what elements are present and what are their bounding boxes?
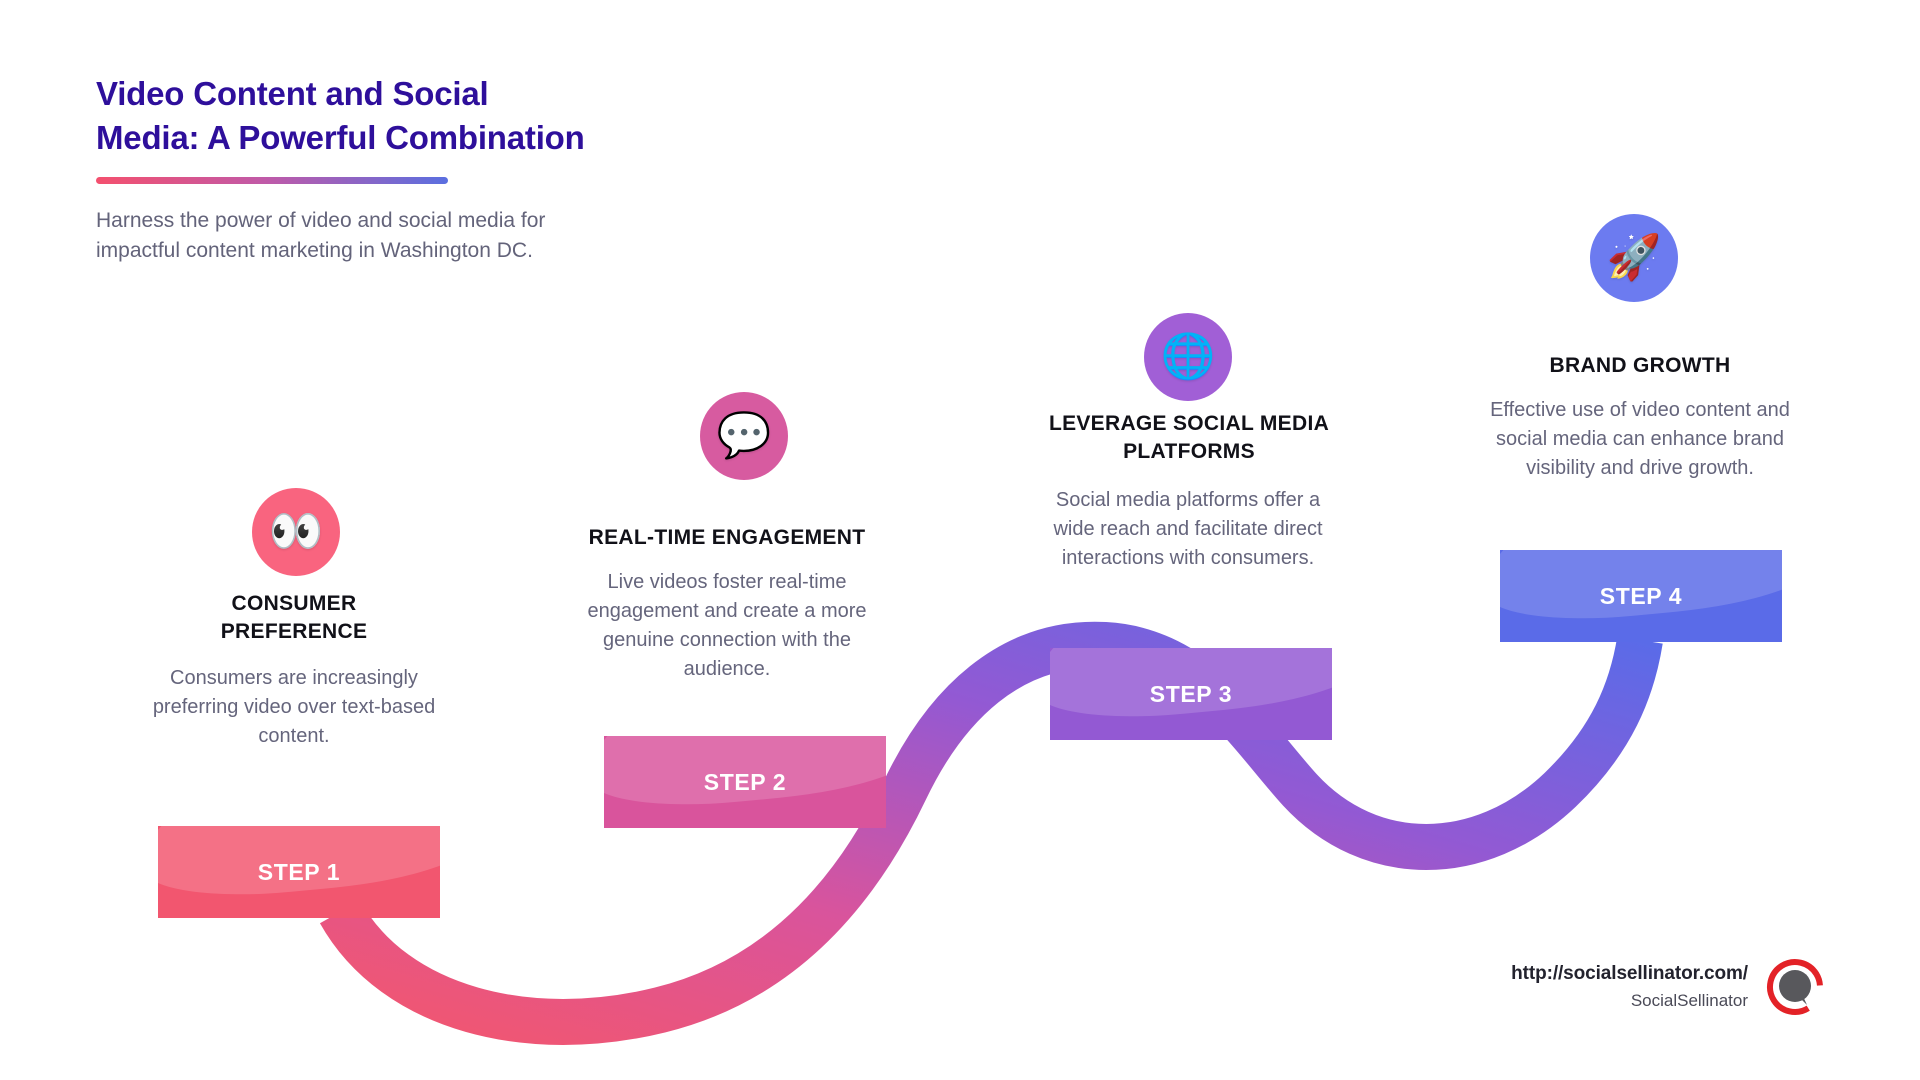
step-bar-label-1: STEP 1 <box>258 859 340 886</box>
step-bar-label-4: STEP 4 <box>1600 583 1682 610</box>
page-title-line-1: Video Content and Social <box>96 72 716 116</box>
eyes-icon-glyph: 👀 <box>269 510 324 554</box>
step-bar-2[interactable]: STEP 2 <box>604 736 886 828</box>
globe-icon-glyph: 🌐 <box>1161 335 1216 379</box>
step-bar-1[interactable]: STEP 1 <box>158 826 440 918</box>
page-subtitle: Harness the power of video and social me… <box>96 206 576 266</box>
rocket-icon-glyph: 🚀 <box>1607 236 1662 280</box>
footer-url[interactable]: http://socialsellinator.com/ <box>1511 963 1748 985</box>
step-description-2: Live videos foster real-time engagement … <box>586 568 868 684</box>
step-bar-label-2: STEP 2 <box>704 769 786 796</box>
footer-text: http://socialsellinator.com/ SocialSelli… <box>1511 963 1748 1011</box>
page-title-line-2: Media: A Powerful Combination <box>96 116 716 160</box>
step-heading-2: REAL-TIME ENGAGEMENT <box>572 524 882 552</box>
header-block: Video Content and Social Media: A Powerf… <box>96 72 716 265</box>
footer-brand-name: SocialSellinator <box>1511 991 1748 1011</box>
speech-balloon-icon: 💬 <box>700 392 788 480</box>
step-description-4: Effective use of video content and socia… <box>1482 396 1798 483</box>
title-divider <box>96 177 448 184</box>
rocket-icon: 🚀 <box>1590 214 1678 302</box>
step-heading-4: BRAND GROWTH <box>1490 352 1790 380</box>
footer-block: http://socialsellinator.com/ SocialSelli… <box>1511 958 1824 1016</box>
step-bar-label-3: STEP 3 <box>1150 681 1232 708</box>
infographic-canvas: Video Content and Social Media: A Powerf… <box>0 0 1920 1080</box>
globe-icon: 🌐 <box>1144 313 1232 401</box>
step-bar-3[interactable]: STEP 3 <box>1050 648 1332 740</box>
logo-svg <box>1766 958 1824 1016</box>
step-description-3: Social media platforms offer a wide reac… <box>1040 486 1336 573</box>
step-heading-1: CONSUMER PREFERENCE <box>160 590 428 645</box>
socialsellinator-logo-icon <box>1766 958 1824 1016</box>
eyes-icon: 👀 <box>252 488 340 576</box>
step-description-1: Consumers are increasingly preferring vi… <box>146 664 442 751</box>
step-bar-4[interactable]: STEP 4 <box>1500 550 1782 642</box>
page-title: Video Content and Social Media: A Powerf… <box>96 72 716 160</box>
speech-balloon-icon-glyph: 💬 <box>717 414 772 458</box>
step-heading-3: LEVERAGE SOCIAL MEDIA PLATFORMS <box>1034 410 1344 465</box>
